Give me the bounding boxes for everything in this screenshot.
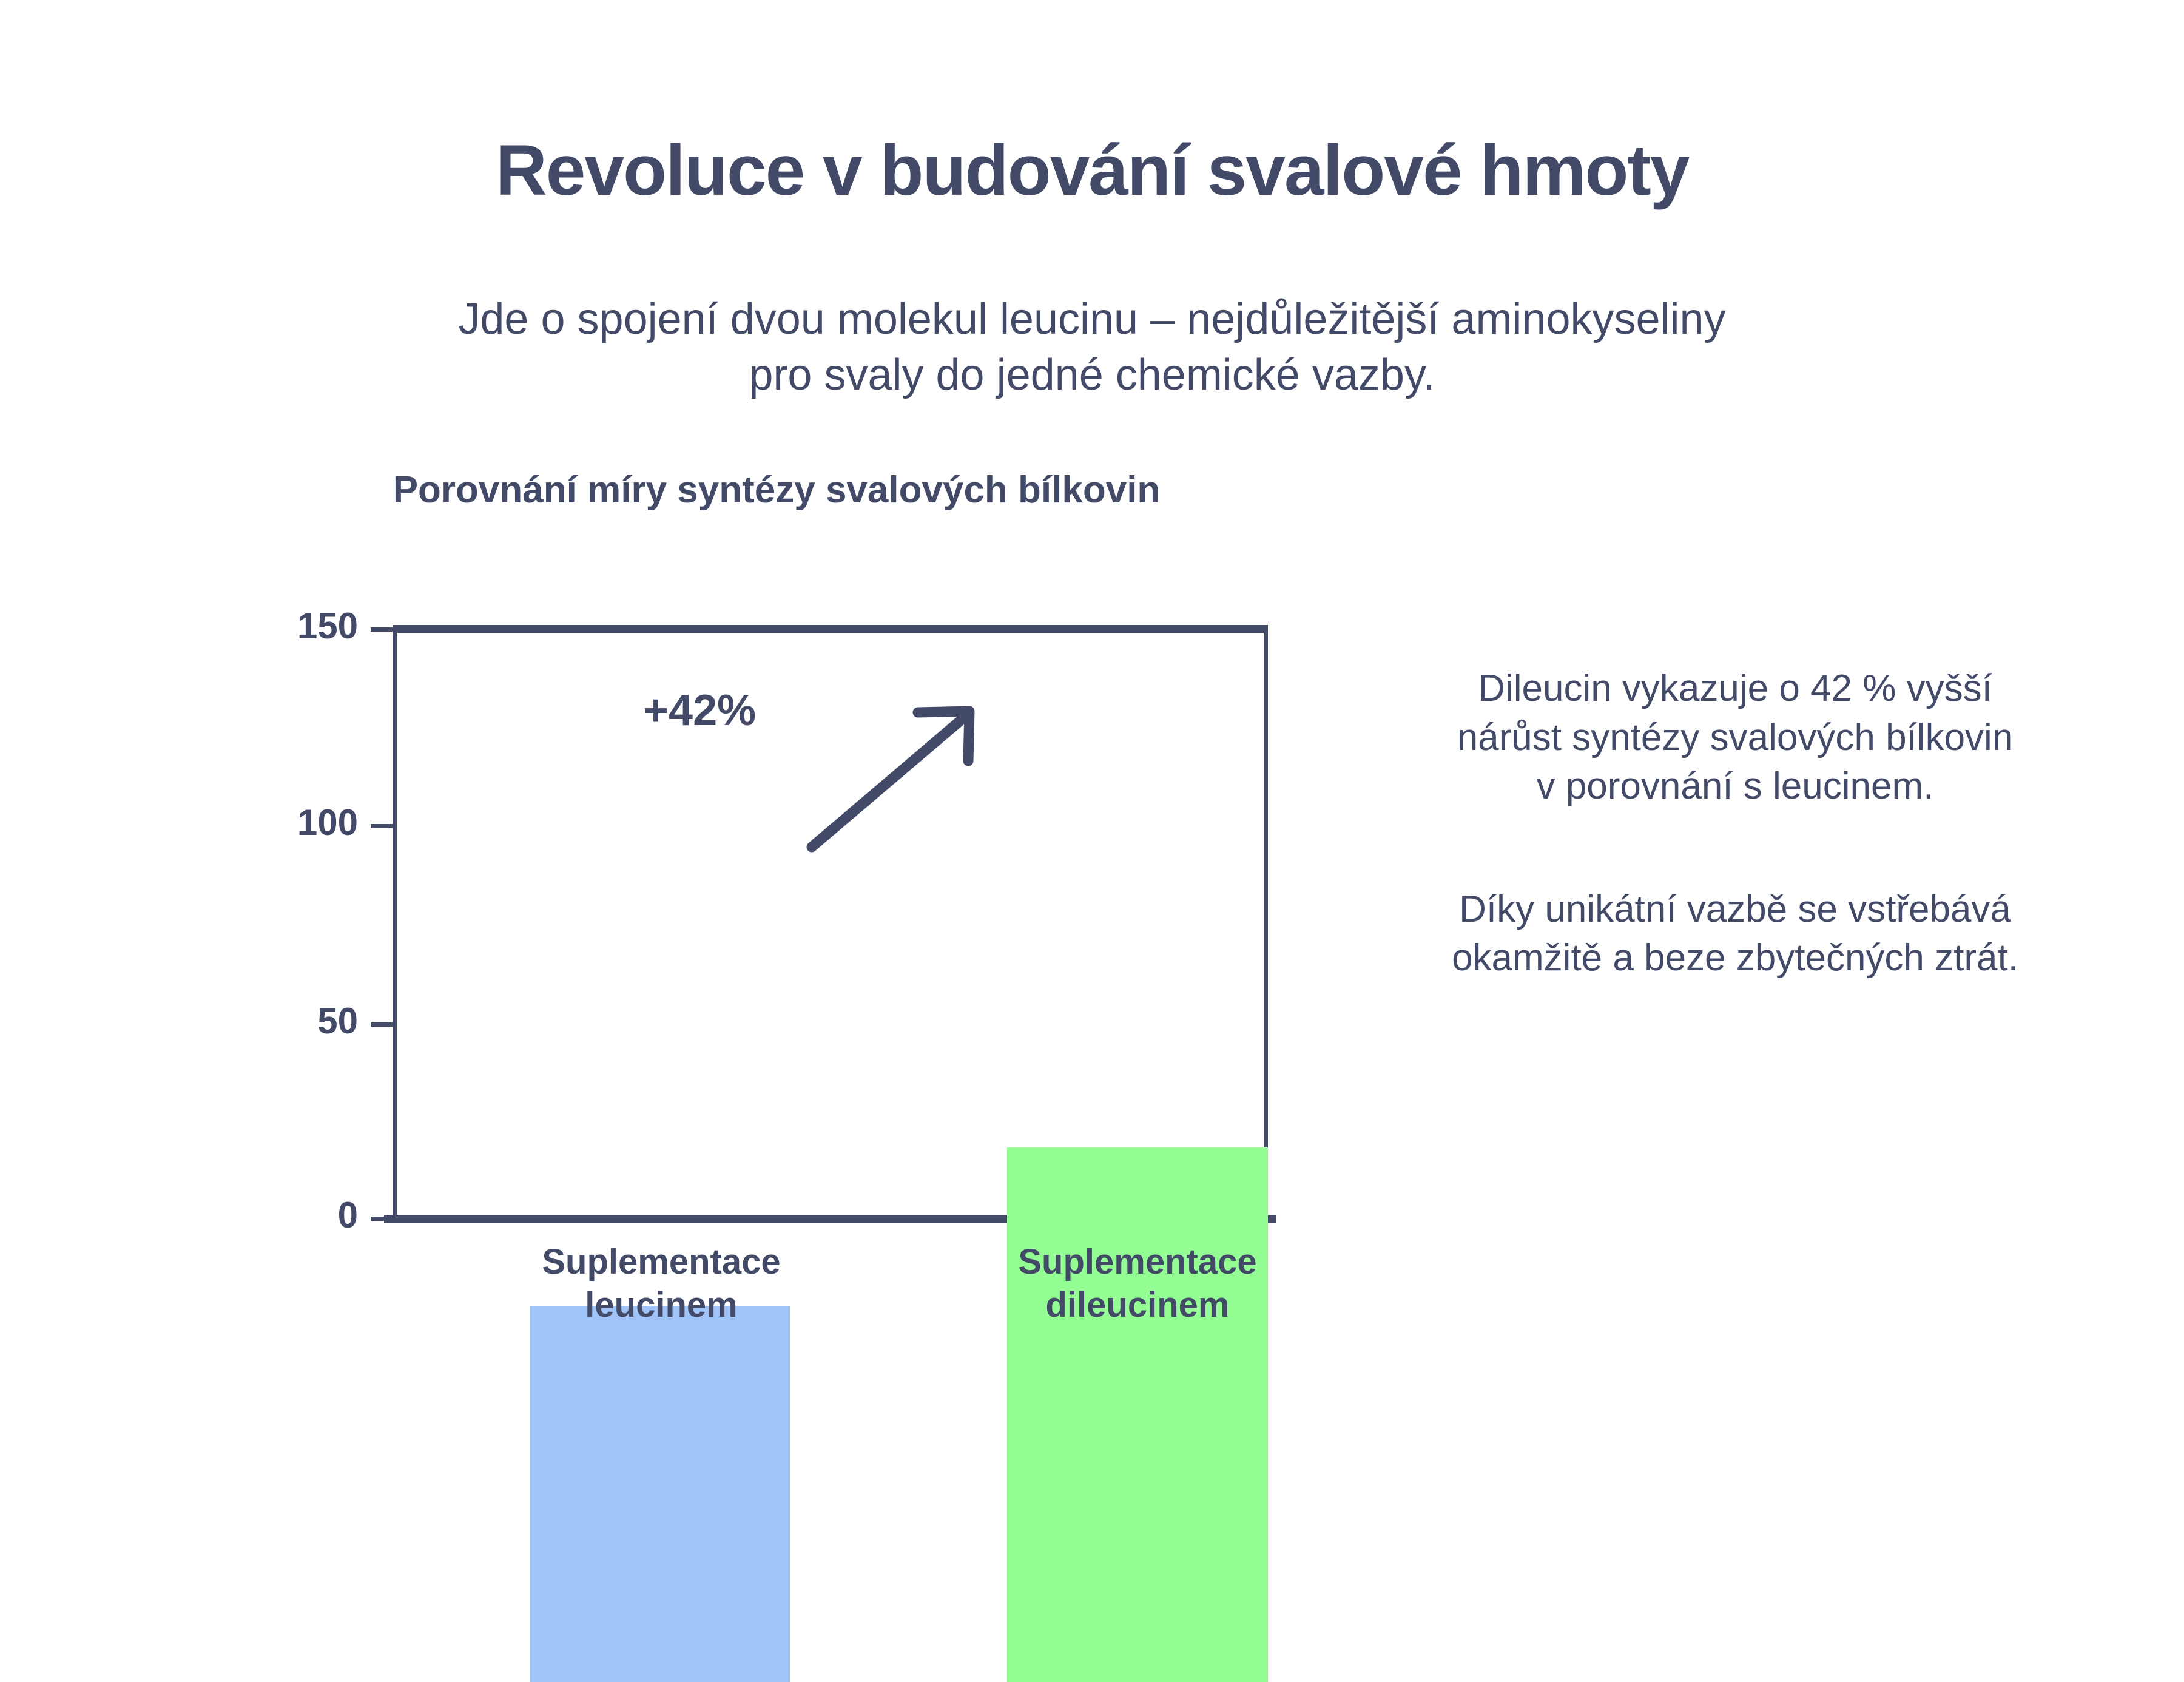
page-title: Revoluce v budování svalové hmoty xyxy=(0,132,2184,209)
chart-title: Porovnání míry syntézy svalových bílkovi… xyxy=(382,467,1171,513)
bar-leucine[interactable] xyxy=(530,1306,790,1682)
side-note-comparison: Dileucin vykazuje o 42 % vyšší nárůst sy… xyxy=(1444,664,2026,811)
arrow-up-right-icon xyxy=(801,698,983,856)
x-tick-label-leucine: Suplementace leucinem xyxy=(479,1241,843,1327)
x-tick-label-dileucine: Suplementace dileucinem xyxy=(955,1241,1319,1327)
side-note-absorption: Díky unikátní vazbě se vstřebává okamžit… xyxy=(1444,885,2026,983)
page-subtitle: Jde o spojení dvou molekul leucinu – nej… xyxy=(425,291,1759,403)
bar-chart: Porovnání míry syntézy svalových bílkovi… xyxy=(218,467,1323,1365)
side-notes: Dileucin vykazuje o 42 % vyšší nárůst sy… xyxy=(1444,664,2026,983)
bars-layer xyxy=(218,625,1323,1682)
bar-dileucine[interactable] xyxy=(1007,1147,1268,1682)
growth-percentage-label: +42% xyxy=(643,686,756,735)
